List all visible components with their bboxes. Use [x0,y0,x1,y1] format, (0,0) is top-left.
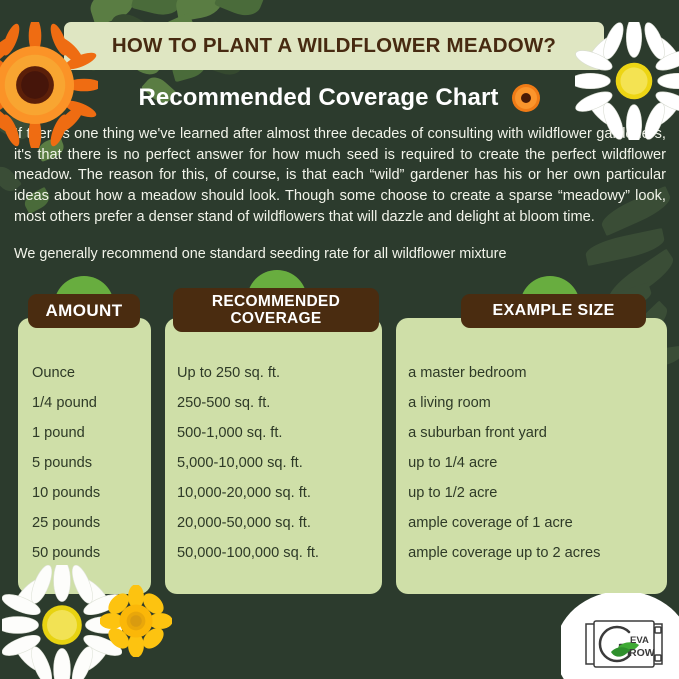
list-item: 50,000-100,000 sq. ft. [177,538,382,568]
list-item: a living room [408,388,667,418]
list-item: up to 1/2 acre [408,478,667,508]
list-item: 10,000-20,000 sq. ft. [177,478,382,508]
column-header-coverage: RECOMMENDED COVERAGE [173,288,379,332]
subtitle-row: Recommended Coverage Chart [0,78,679,118]
flower-orange-small-icon [511,83,541,113]
list-item: 10 pounds [32,478,151,508]
list-item: 250-500 sq. ft. [177,388,382,418]
column-header-example-size: EXAMPLE SIZE [461,294,646,328]
list-item: ample coverage of 1 acre [408,508,667,538]
coverage-table: AMOUNT Ounce 1/4 pound 1 pound 5 pounds … [18,318,667,594]
logo-text-row: ROW [629,647,655,659]
list-item: 25 pounds [32,508,151,538]
list-item: 50 pounds [32,538,151,568]
flower-yellow-coreopsis [100,585,172,657]
column-header-amount: AMOUNT [28,294,140,328]
list-item: a master bedroom [408,358,667,388]
column-card-example-size: EXAMPLE SIZE a master bedroom a living r… [396,318,667,594]
column-header-coverage-line2: COVERAGE [212,310,340,327]
list-item: a suburban front yard [408,418,667,448]
list-item: 1 pound [32,418,151,448]
column-header-coverage-line1: RECOMMENDED [212,293,340,310]
list-item: 20,000-50,000 sq. ft. [177,508,382,538]
page-title: HOW TO PLANT A WILDFLOWER MEADOW? [112,34,556,58]
column-card-coverage: RECOMMENDED COVERAGE Up to 250 sq. ft. 2… [165,318,382,594]
recommendation-paragraph: We generally recommend one standard seed… [14,244,666,264]
intro-paragraph: If there's one thing we've learned after… [14,124,666,228]
list-item: Ounce [32,358,151,388]
column-list-example-size: a master bedroom a living room a suburba… [396,354,667,568]
column-list-coverage: Up to 250 sq. ft. 250-500 sq. ft. 500-1,… [165,354,382,568]
list-item: 5,000-10,000 sq. ft. [177,448,382,478]
eva-grow-logo: EVA ROW [581,617,667,671]
logo-text-eva: EVA [630,635,649,646]
body-copy: If there's one thing we've learned after… [14,124,666,264]
infographic-canvas: HOW TO PLANT A WILDFLOWER MEADOW? Recomm… [0,0,679,679]
list-item: 500-1,000 sq. ft. [177,418,382,448]
list-item: ample coverage up to 2 acres [408,538,667,568]
column-list-amount: Ounce 1/4 pound 1 pound 5 pounds 10 poun… [18,354,151,568]
brand-logo-corner: EVA ROW [561,593,679,679]
list-item: Up to 250 sq. ft. [177,358,382,388]
column-card-amount: AMOUNT Ounce 1/4 pound 1 pound 5 pounds … [18,318,151,594]
title-banner: HOW TO PLANT A WILDFLOWER MEADOW? [64,22,604,70]
list-item: up to 1/4 acre [408,448,667,478]
list-item: 1/4 pound [32,388,151,418]
page-subtitle: Recommended Coverage Chart [138,84,498,112]
list-item: 5 pounds [32,448,151,478]
